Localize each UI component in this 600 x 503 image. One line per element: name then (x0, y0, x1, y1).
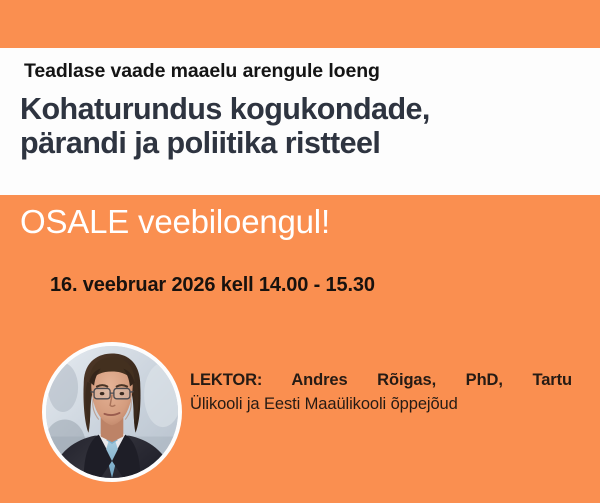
lecturer-portrait-photo (46, 346, 178, 478)
lecturer-info: LEKTOR: Andres Rõigas, PhD, Tartu Ülikoo… (190, 368, 572, 416)
lecturer-portrait (42, 342, 182, 482)
lecturer-line-2: Ülikooli ja Eesti Maaülikooli õppejõud (190, 392, 572, 416)
poster-datetime: 16. veebruar 2026 kell 14.00 - 15.30 (50, 272, 570, 298)
headline-line-1: Kohaturundus kogukondade, (20, 93, 586, 127)
headline-line-2: pärandi ja poliitika ristteel (20, 127, 586, 161)
poster-call-to-action: OSALE veebiloengul! (20, 203, 580, 241)
lecturer-line-1: LEKTOR: Andres Rõigas, PhD, Tartu (190, 368, 572, 392)
poster-kicker-text: Teadlase vaade maaelu arengule loeng (24, 58, 564, 84)
event-poster: Teadlase vaade maaelu arengule loeng Koh… (0, 0, 600, 503)
poster-headline: Kohaturundus kogukondade, pärandi ja pol… (20, 93, 586, 160)
